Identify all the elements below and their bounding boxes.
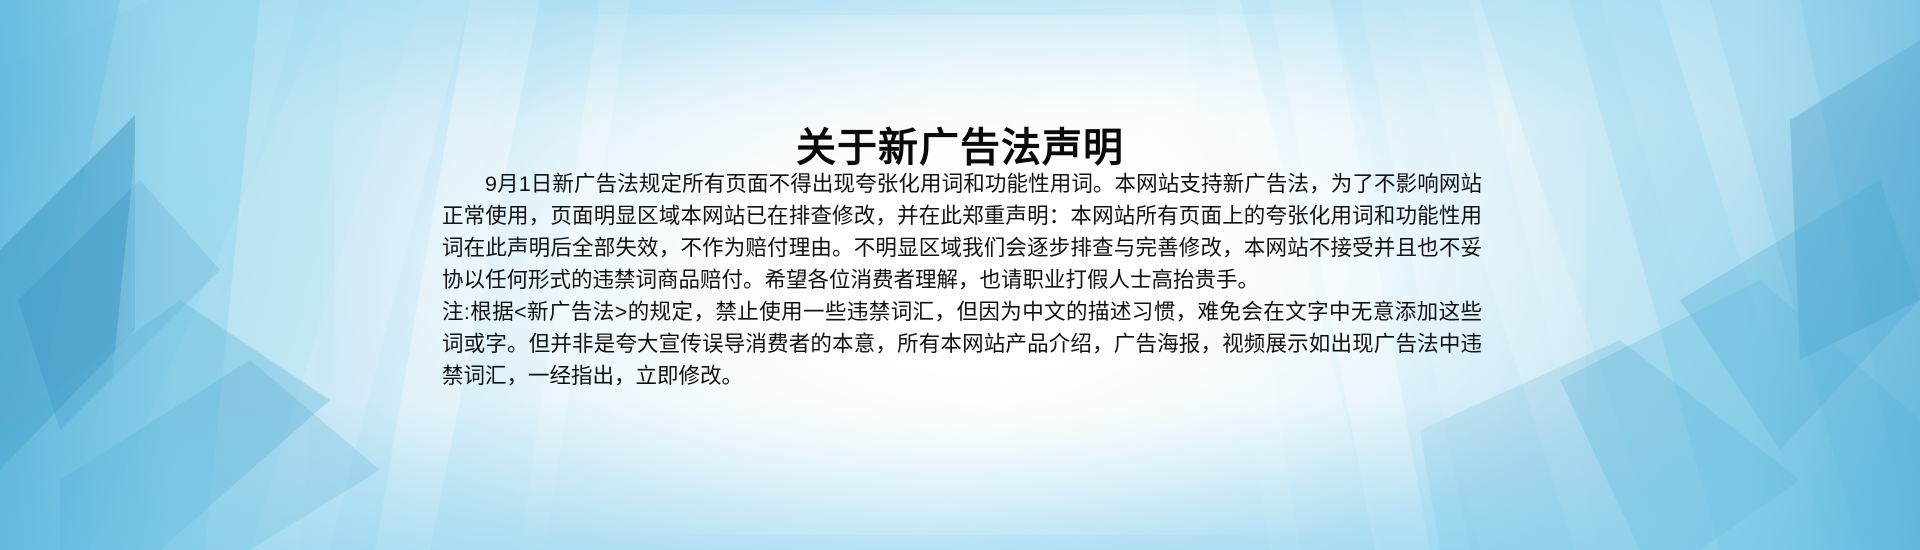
statement-body: 9月1日新广告法规定所有页面不得出现夸张化用词和功能性用词。本网站支持新广告法，… [442,168,1482,392]
page-title: 关于新广告法声明 [460,125,1460,171]
statement-paragraph-main: 9月1日新广告法规定所有页面不得出现夸张化用词和功能性用词。本网站支持新广告法，… [442,168,1482,296]
advertising-law-statement-banner: 关于新广告法声明 9月1日新广告法规定所有页面不得出现夸张化用词和功能性用词。本… [0,0,1920,550]
statement-content: 关于新广告法声明 9月1日新广告法规定所有页面不得出现夸张化用词和功能性用词。本… [460,0,1460,550]
statement-paragraph-note: 注:根据<新广告法>的规定，禁止使用一些违禁词汇，但因为中文的描述习惯，难免会在… [442,296,1482,392]
